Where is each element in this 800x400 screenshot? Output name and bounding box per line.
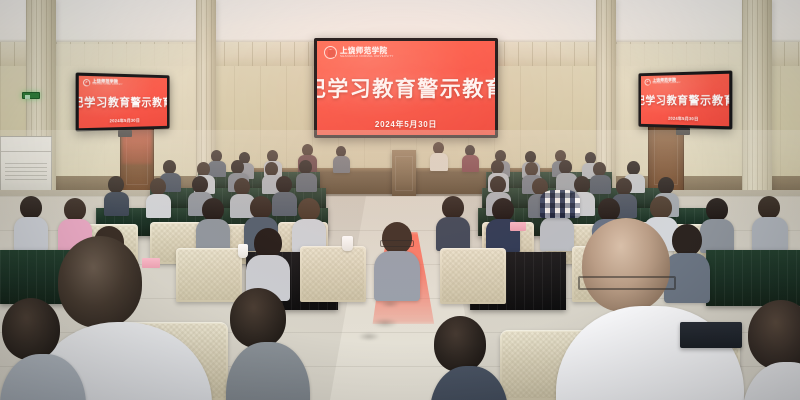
side-screen-left: 上饶师范学院 SHANGRAO NORMAL UNIVERSITY 党纪学习教育…: [76, 72, 170, 131]
table-skirt: [706, 250, 800, 306]
plaid-shirt: [540, 190, 580, 218]
head: [2, 298, 60, 360]
exit-sign-icon: [22, 92, 40, 99]
logo-name-cn: 上饶师范学院: [340, 47, 393, 55]
document-folder: [680, 322, 742, 348]
main-projection-screen: 上饶师范学院 SHANGRAO NORMAL UNIVERSITY 党纪学习教育…: [314, 38, 498, 138]
head: [748, 300, 800, 370]
paper-cup: [238, 244, 248, 258]
university-logo: 上饶师范学院 SHANGRAO NORMAL UNIVERSITY: [83, 79, 123, 87]
logo-name-en: SHANGRAO NORMAL UNIVERSITY: [92, 85, 122, 87]
lectern: [392, 150, 416, 196]
floor-smudge: [380, 300, 400, 308]
screen-stand: [676, 128, 690, 135]
name-card: [142, 258, 160, 268]
head: [230, 288, 286, 348]
side-screen-right: 上饶师范学院 SHANGRAO NORMAL UNIVERSITY 党纪学习教育…: [638, 70, 732, 129]
air-conditioner-icon: [0, 136, 52, 198]
floor-smudge: [372, 318, 398, 328]
university-seal-icon: [83, 79, 90, 86]
chair: [300, 246, 366, 302]
side-screen-left-date: 2024年5月30日: [110, 118, 140, 125]
chair: [176, 248, 242, 302]
university-logo: 上饶师范学院 SHANGRAO NORMAL UNIVERSITY: [324, 46, 393, 59]
conference-hall-photo: 上饶师范学院 SHANGRAO NORMAL UNIVERSITY 党纪学习教育…: [0, 0, 800, 400]
logo-name-en: SHANGRAO NORMAL UNIVERSITY: [340, 55, 393, 58]
university-seal-icon: [324, 46, 337, 59]
main-screen-date: 2024年5月30日: [375, 119, 437, 130]
main-screen-title: 党纪学习教育警示教育会: [317, 73, 495, 103]
name-card: [510, 222, 526, 231]
head: [58, 236, 142, 328]
paper-cup: [342, 236, 353, 251]
logo-name-en: SHANGRAO NORMAL UNIVERSITY: [652, 83, 680, 85]
side-screen-right-date: 2024年5月30日: [668, 116, 698, 123]
university-logo: 上饶师范学院 SHANGRAO NORMAL UNIVERSITY: [645, 78, 681, 86]
screen-stand: [118, 130, 132, 137]
wall-column: [742, 0, 772, 200]
university-seal-icon: [645, 79, 651, 86]
side-screen-right-title: 党纪学习教育警示教育会: [641, 91, 729, 108]
side-screen-left-title: 党纪学习教育警示教育会: [79, 93, 167, 110]
floor-smudge: [358, 332, 380, 341]
head: [434, 316, 486, 372]
glasses-icon: [578, 276, 676, 290]
chair: [440, 248, 506, 304]
head: [582, 218, 670, 312]
